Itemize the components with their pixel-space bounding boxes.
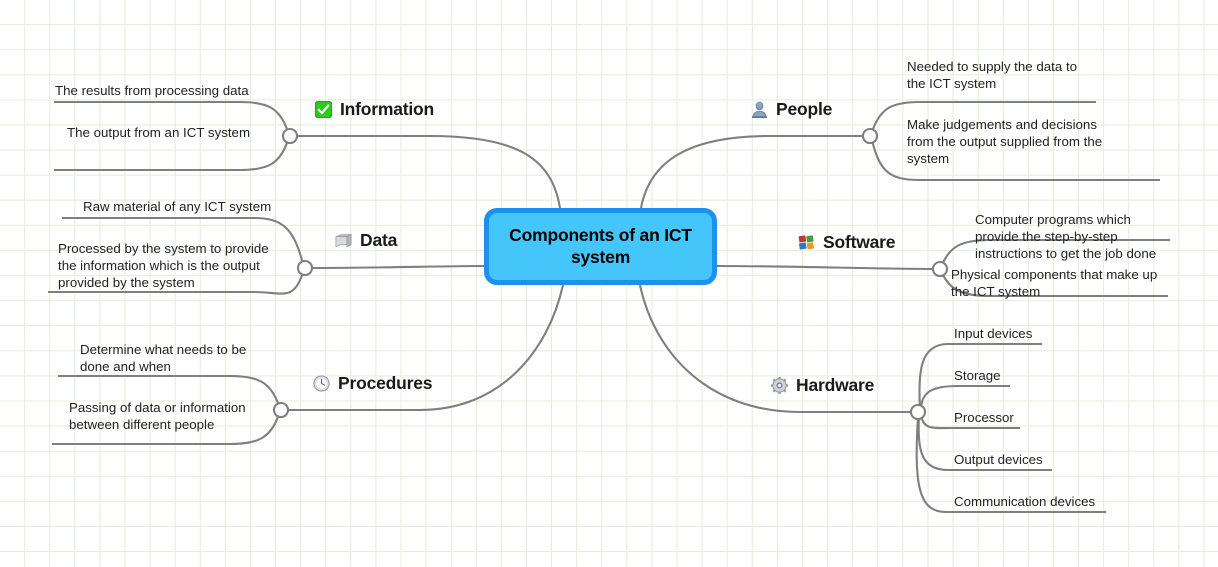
leaf-procedures-0[interactable]: Determine what needs to be done and when — [80, 341, 260, 375]
person-icon — [750, 100, 769, 119]
wire-central-data — [307, 266, 484, 268]
wire-hardware-child-1 — [921, 386, 1010, 408]
central-node[interactable]: Components of an ICT system — [484, 208, 717, 285]
leaf-information-0[interactable]: The results from processing data — [55, 82, 305, 99]
gear-icon — [770, 376, 789, 395]
branch-label: Information — [340, 99, 434, 120]
folder-icon — [334, 231, 353, 250]
junction-hardware[interactable] — [911, 405, 925, 419]
junction-people[interactable] — [863, 129, 877, 143]
mindmap-canvas: Components of an ICT system Information … — [0, 0, 1218, 567]
leaf-hardware-1[interactable]: Storage — [954, 367, 1134, 384]
branch-label: People — [776, 99, 832, 120]
wire-central-software — [717, 266, 938, 269]
branch-label: Data — [360, 230, 397, 251]
branch-software[interactable]: Software — [797, 232, 895, 253]
branch-information[interactable]: Information — [314, 99, 434, 120]
leaf-people-1[interactable]: Make judgements and decisions from the o… — [907, 116, 1121, 167]
leaf-hardware-2[interactable]: Processor — [954, 409, 1134, 426]
leaf-people-0[interactable]: Needed to supply the data to the ICT sys… — [907, 58, 1097, 92]
leaf-hardware-0[interactable]: Input devices — [954, 325, 1134, 342]
green-check-icon — [314, 100, 333, 119]
wire-central-people — [641, 136, 868, 208]
clock-icon — [312, 374, 331, 393]
wire-information-child-1 — [54, 140, 288, 170]
leaf-procedures-1[interactable]: Passing of data or information between d… — [69, 399, 269, 433]
branch-procedures[interactable]: Procedures — [312, 373, 432, 394]
leaf-hardware-3[interactable]: Output devices — [954, 451, 1134, 468]
branch-hardware[interactable]: Hardware — [770, 375, 874, 396]
branch-data[interactable]: Data — [334, 230, 397, 251]
wire-central-information — [292, 136, 560, 208]
junction-data[interactable] — [298, 261, 312, 275]
branch-label: Hardware — [796, 375, 874, 396]
leaf-software-0[interactable]: Computer programs which provide the step… — [975, 211, 1173, 262]
leaf-software-1[interactable]: Physical components that make up the ICT… — [951, 266, 1171, 300]
windows-logo-icon — [797, 233, 816, 252]
branch-label: Software — [823, 232, 895, 253]
leaf-hardware-4[interactable]: Communication devices — [954, 493, 1154, 510]
junction-procedures[interactable] — [274, 403, 288, 417]
leaf-data-1[interactable]: Processed by the system to provide the i… — [58, 240, 276, 291]
leaf-data-0[interactable]: Raw material of any ICT system — [83, 198, 313, 215]
junction-software[interactable] — [933, 262, 947, 276]
branch-label: Procedures — [338, 373, 432, 394]
leaf-information-1[interactable]: The output from an ICT system — [67, 124, 317, 141]
branch-people[interactable]: People — [750, 99, 832, 120]
